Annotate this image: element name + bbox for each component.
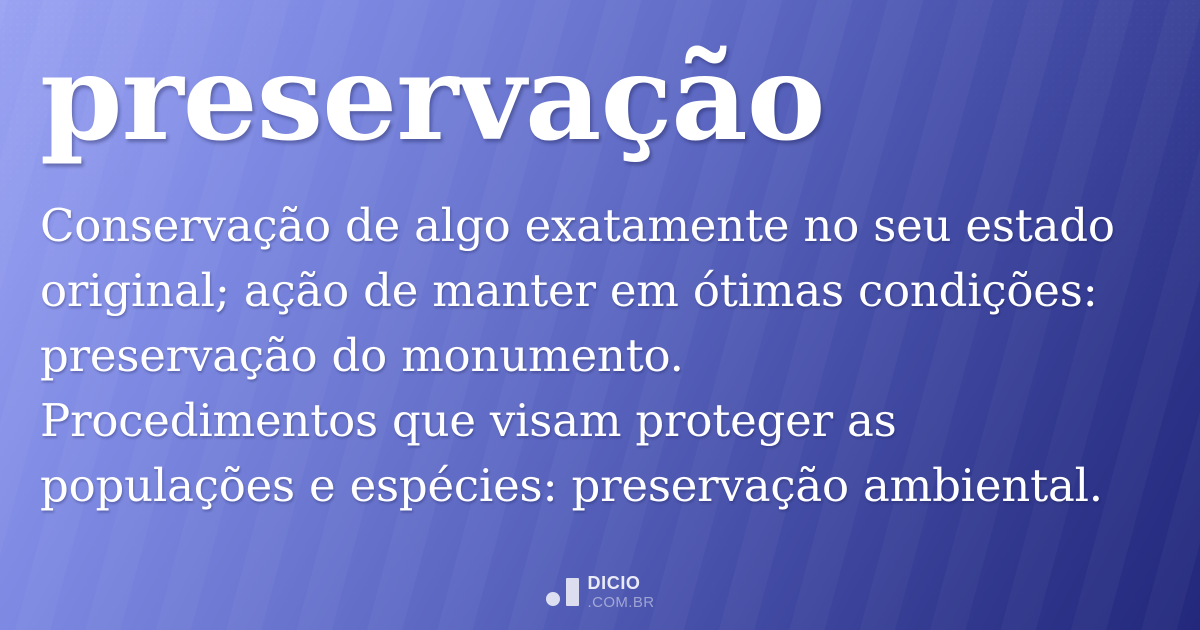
definition-block: Conservação de algo exatamente no seu es… [40,193,1160,518]
definition-line: original; ação de manter em ótimas condi… [40,258,1160,323]
definition-line: Procedimentos que visam proteger as [40,388,1160,453]
definition-line: Conservação de algo exatamente no seu es… [40,193,1160,258]
dicio-logo: DICIO .COM.BR [0,574,1200,610]
card-content: preservação Conservação de algo exatamen… [0,0,1200,630]
logo-mark-icon [546,578,579,606]
logo-wordmark: DICIO .COM.BR [588,574,655,610]
definition-line: preservação do monumento. [40,323,1160,388]
circle-icon [546,592,560,606]
page-title: preservação [40,28,824,167]
dicio-definition-card: preservação Conservação de algo exatamen… [0,0,1200,630]
bar-icon [566,578,579,606]
logo-tld: .COM.BR [588,595,655,610]
logo-name: DICIO [588,574,655,592]
definition-line: populações e espécies: preservação ambie… [40,453,1160,518]
